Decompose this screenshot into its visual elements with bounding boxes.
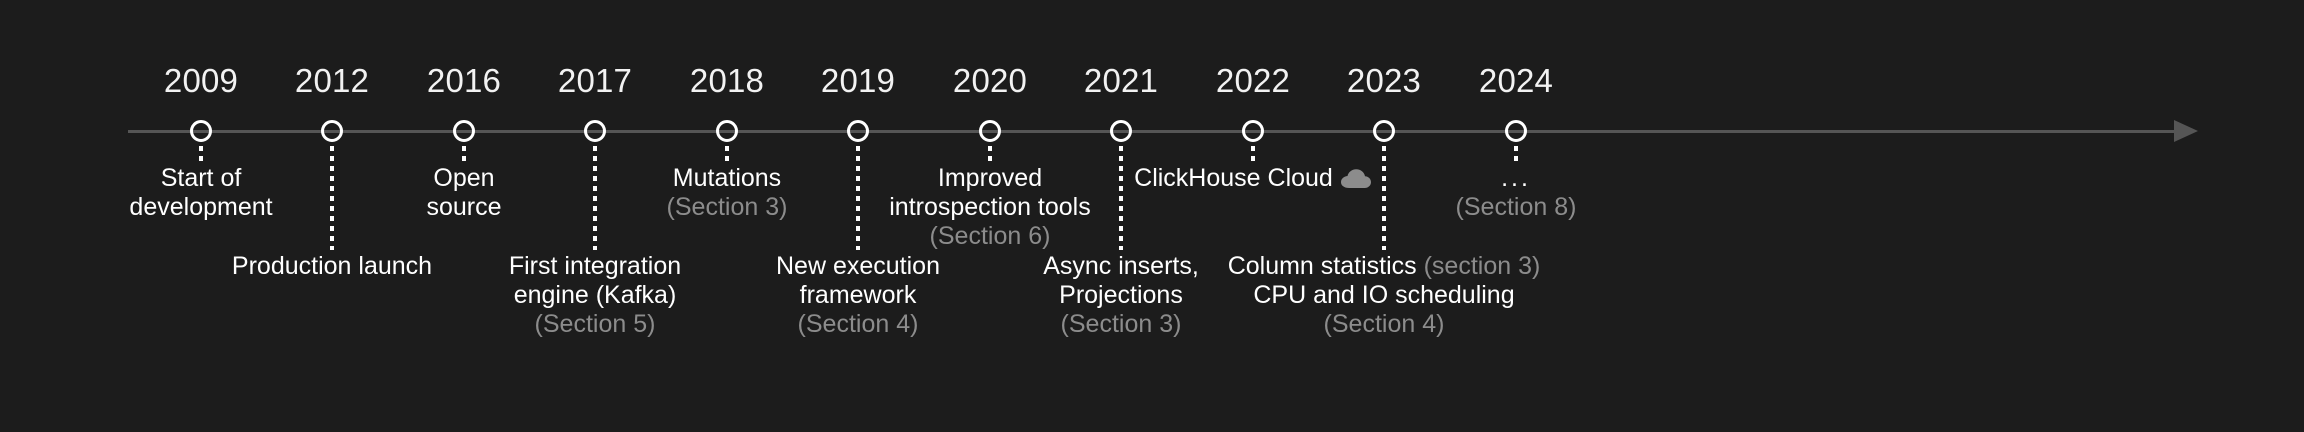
event-label-line: ... [1216,164,1816,193]
event-label-line: Column statistics (section 3) [1084,252,1684,281]
event-marker-circle-icon[interactable] [847,120,869,142]
event-section-reference: (Section 8) [1216,193,1816,222]
event-marker-circle-icon[interactable] [321,120,343,142]
event-section-reference: (section 3) [1424,252,1541,280]
event-connector-line [462,146,466,164]
event-marker-circle-icon[interactable] [1110,120,1132,142]
event-label: ...(Section 8) [1216,164,1816,222]
event-label-line: CPU and IO scheduling [1084,281,1684,310]
timeline-axis-line [128,130,2178,133]
event-label-text: introspection tools [889,193,1091,221]
event-marker-circle-icon[interactable] [453,120,475,142]
event-section-reference: (Section 6) [690,222,1290,251]
event-connector-line [1514,146,1518,164]
timeline-axis-arrowhead [2174,120,2198,142]
event-connector-line [725,146,729,164]
event-connector-line [988,146,992,164]
event-marker-circle-icon[interactable] [979,120,1001,142]
event-year-label: 2024 [1386,62,1646,100]
event-connector-line [199,146,203,164]
event-marker-circle-icon[interactable] [1242,120,1264,142]
event-label: Column statistics (section 3)CPU and IO … [1084,252,1684,339]
event-label-text: Column statistics [1228,252,1417,280]
event-marker-circle-icon[interactable] [584,120,606,142]
event-label-text: ... [1501,164,1531,192]
event-marker-circle-icon[interactable] [1505,120,1527,142]
event-label-text: CPU and IO scheduling [1253,281,1514,309]
event-label-line: introspection tools [690,193,1290,222]
event-marker-circle-icon[interactable] [190,120,212,142]
event-marker-circle-icon[interactable] [716,120,738,142]
event-marker-circle-icon[interactable] [1373,120,1395,142]
event-connector-line [1251,146,1255,164]
event-connector-line [1119,146,1123,250]
event-section-reference: (Section 4) [1084,310,1684,339]
timeline-diagram: 2009Start ofdevelopment2012Production la… [0,0,2304,432]
